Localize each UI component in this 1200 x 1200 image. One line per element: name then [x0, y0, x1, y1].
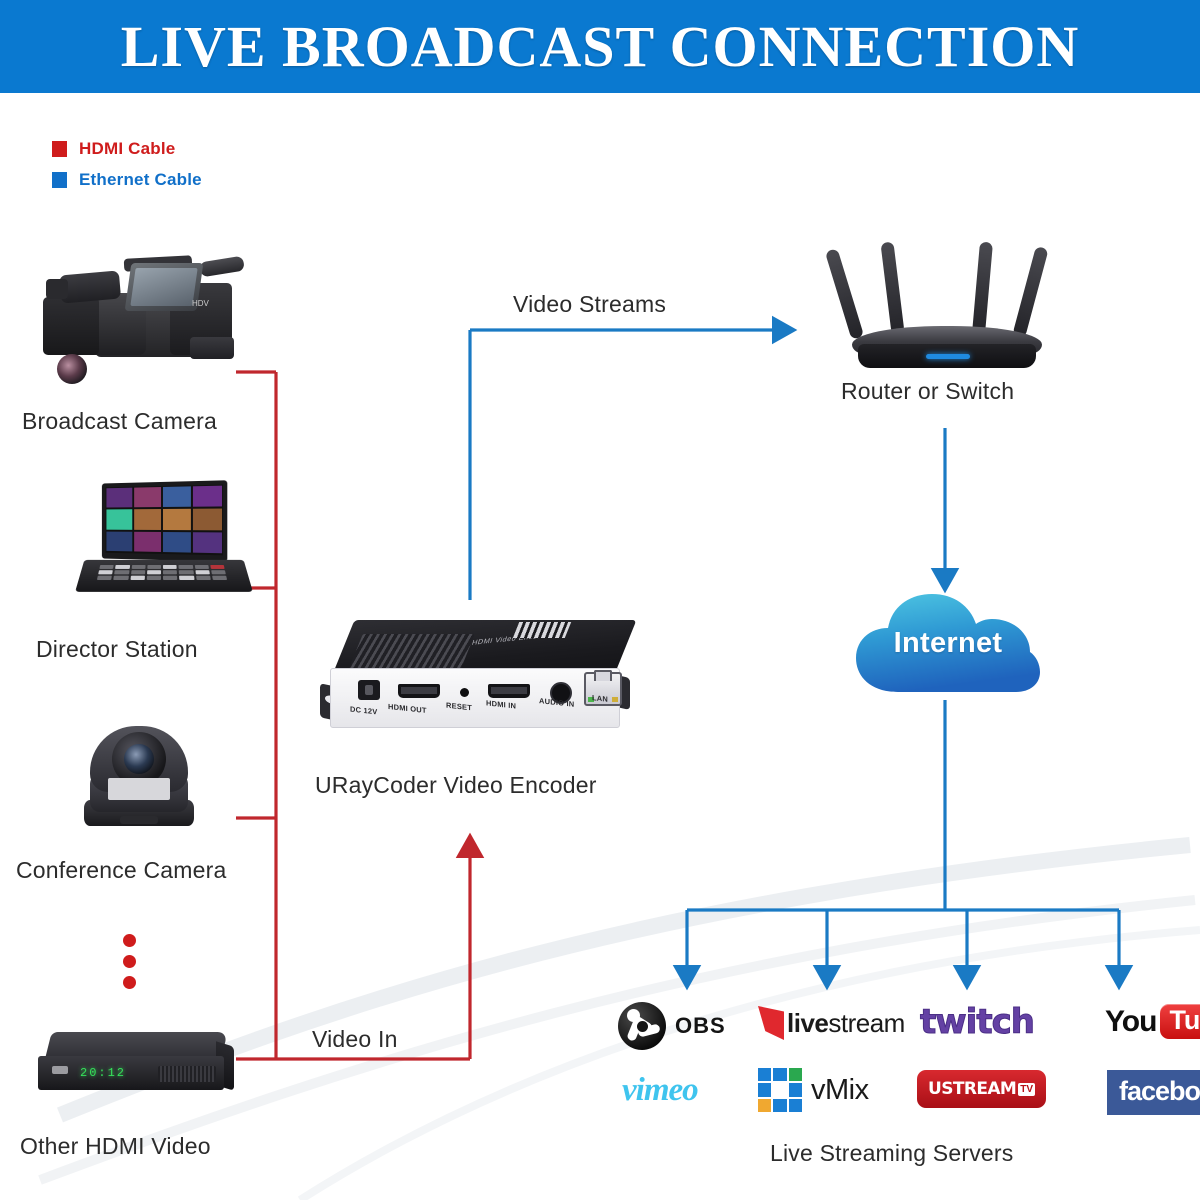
vertical-ellipsis-red-dots-icon [123, 934, 136, 997]
encoder-label: URayCoder Video Encoder [315, 772, 597, 799]
vmix-logo-icon [758, 1068, 802, 1112]
obs-logo[interactable]: OBS [618, 1002, 726, 1050]
obs-logo-icon [618, 1002, 666, 1050]
ustream-logo-badge: TV [1018, 1083, 1035, 1096]
livestream-logo-icon [758, 1006, 784, 1040]
vmix-logo[interactable]: vMix [758, 1068, 869, 1112]
encoder-port-dc [358, 680, 380, 700]
vimeo-logo[interactable]: vimeo [622, 1072, 698, 1109]
livestream-text-bold: live [787, 1008, 828, 1038]
encoder-port-reset [460, 688, 469, 697]
set-top-box-display: 20:12 [80, 1066, 126, 1080]
ptz-camera-icon [78, 722, 200, 834]
youtube-logo-text-you: You [1105, 1005, 1156, 1039]
laptop-switcher-icon [80, 482, 248, 610]
internet-label: Internet [850, 588, 1046, 698]
youtube-logo[interactable]: You Tube [1105, 1004, 1200, 1039]
facebook-logo-icon: facebook [1107, 1070, 1200, 1115]
facebook-logo[interactable]: facebook [1107, 1070, 1200, 1115]
router-label: Router or Switch [841, 378, 1014, 405]
diagram-canvas: LIVE BROADCAST CONNECTION HDMI Cable Eth… [0, 0, 1200, 1200]
wifi-router-icon [828, 238, 1064, 370]
encoder-port-label-lan: LAN [592, 693, 608, 704]
director-station-label: Director Station [36, 636, 198, 663]
encoder-port-hdmi-out [398, 684, 440, 698]
livestream-text-regular: stream [828, 1008, 904, 1038]
video-in-label: Video In [312, 1026, 398, 1053]
livestream-logo[interactable]: livestream [758, 1006, 905, 1040]
broadcast-camera-label: Broadcast Camera [22, 408, 217, 435]
twitch-logo-text: twitch [920, 1002, 1034, 1042]
encoder-port-hdmi-in [488, 684, 530, 698]
set-top-box-icon: 20:12 [38, 1032, 234, 1100]
livestream-logo-text: livestream [787, 1008, 905, 1039]
facebook-logo-text: facebook [1119, 1076, 1200, 1106]
ustream-logo[interactable]: USTREAMTV [917, 1070, 1046, 1108]
video-streams-label: Video Streams [513, 291, 666, 318]
twitch-logo[interactable]: twitch [920, 1002, 1034, 1042]
cloud-icon: Internet [850, 588, 1046, 698]
streaming-servers-label: Live Streaming Servers [770, 1140, 1013, 1167]
obs-logo-text: OBS [675, 1013, 726, 1039]
ustream-logo-text: USTREAM [928, 1079, 1016, 1099]
streaming-logos: OBS livestream twitch You Tube vimeo vMi… [610, 1000, 1190, 1140]
video-encoder-icon: HDMI Video Encoder DC 12V HDMI OUT RESET… [320, 620, 650, 750]
vmix-logo-text: vMix [811, 1074, 869, 1107]
vimeo-logo-text: vimeo [622, 1072, 698, 1109]
broadcast-camera-icon: HDV [40, 255, 245, 380]
conference-camera-label: Conference Camera [16, 857, 227, 884]
other-hdmi-video-label: Other HDMI Video [20, 1133, 211, 1160]
youtube-logo-text-tube: Tube [1160, 1004, 1200, 1039]
ustream-logo-icon: USTREAMTV [917, 1070, 1046, 1108]
